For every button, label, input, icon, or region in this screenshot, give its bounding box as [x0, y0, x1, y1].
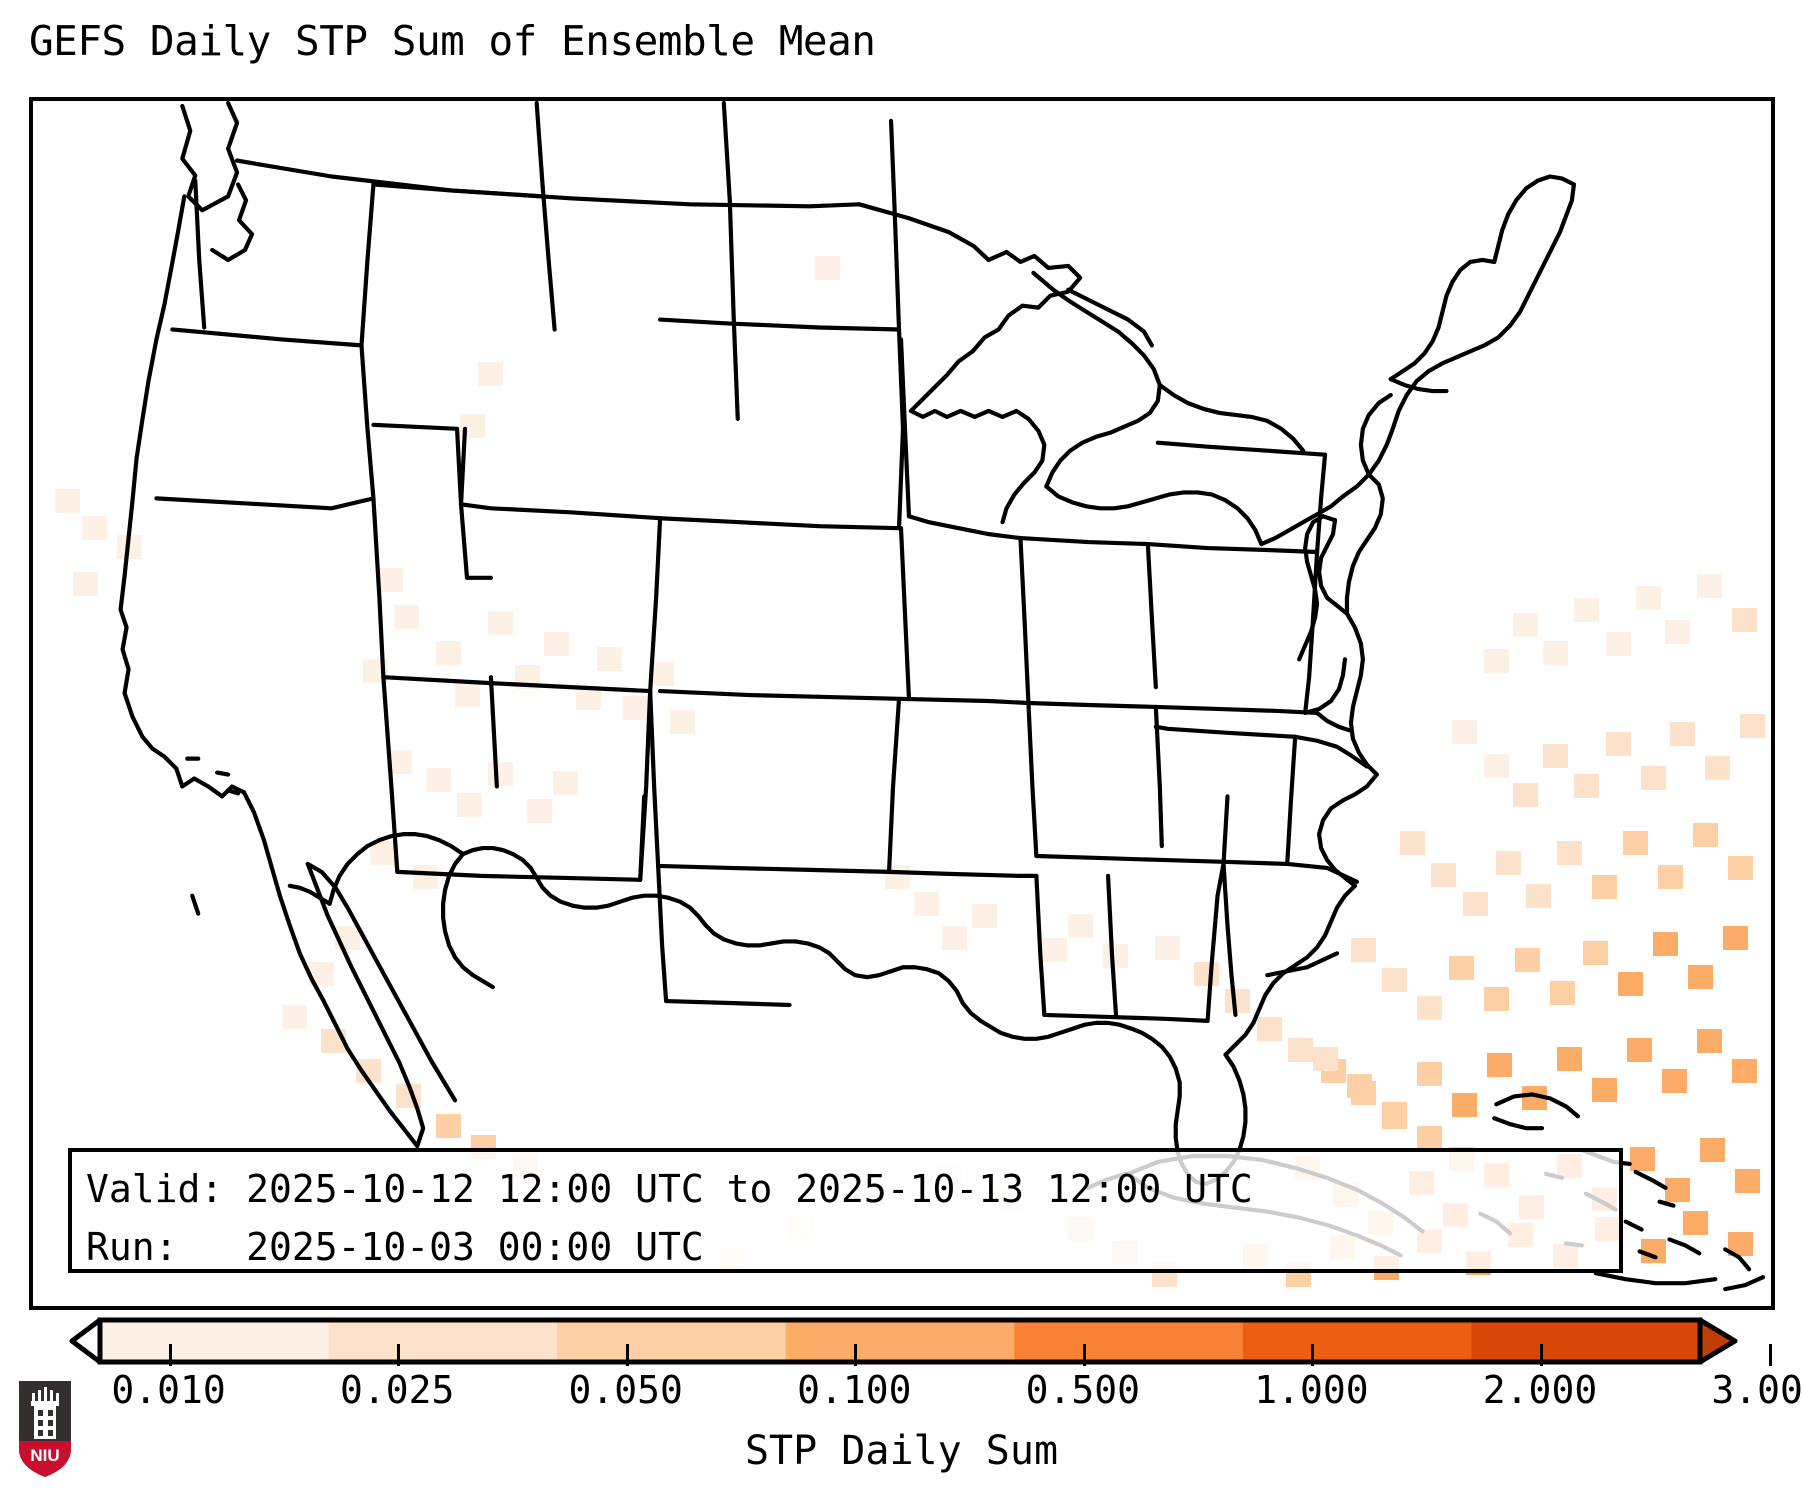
colorbar-tick-label: 0.100: [797, 1368, 911, 1412]
colorbar-tick-label: 1.000: [1254, 1368, 1368, 1412]
colorbar-tick: [1311, 1344, 1314, 1366]
colorbar-tick: [1769, 1344, 1772, 1366]
map-canvas: [33, 101, 1771, 1306]
run-time-text: Run: 2025-10-03 00:00 UTC: [86, 1218, 1619, 1276]
valid-time-text: Valid: 2025-10-12 12:00 UTC to 2025-10-1…: [86, 1160, 1619, 1218]
colorbar-tick-label: 0.025: [340, 1368, 454, 1412]
forecast-info-box: Valid: 2025-10-12 12:00 UTC to 2025-10-1…: [68, 1148, 1623, 1273]
page-title: GEFS Daily STP Sum of Ensemble Mean: [29, 17, 875, 65]
colorbar-tick: [397, 1344, 400, 1366]
colorbar-tick-label: 0.500: [1026, 1368, 1140, 1412]
colorbar-tick: [626, 1344, 629, 1366]
svg-text:NIU: NIU: [30, 1446, 59, 1465]
map-panel: [29, 97, 1775, 1310]
niu-logo: NIU: [17, 1379, 73, 1479]
colorbar-tick-label: 2.000: [1483, 1368, 1597, 1412]
colorbar-tick: [169, 1344, 172, 1366]
colorbar-axis-label: STP Daily Sum: [0, 1428, 1803, 1474]
colorbar-tick: [1083, 1344, 1086, 1366]
colorbar-tick-label: 0.010: [111, 1368, 225, 1412]
colorbar-tick-label: 0.050: [569, 1368, 683, 1412]
colorbar-tick: [1540, 1344, 1543, 1366]
colorbar-tick: [854, 1344, 857, 1366]
geography-layer: [33, 101, 1771, 1306]
colorbar-tick-label: 3.000: [1711, 1368, 1803, 1412]
colorbar-tick-labels: 0.0100.0250.0500.1000.5001.0002.0003.000: [0, 1368, 1803, 1418]
colorbar-ticks: [0, 1344, 1803, 1364]
